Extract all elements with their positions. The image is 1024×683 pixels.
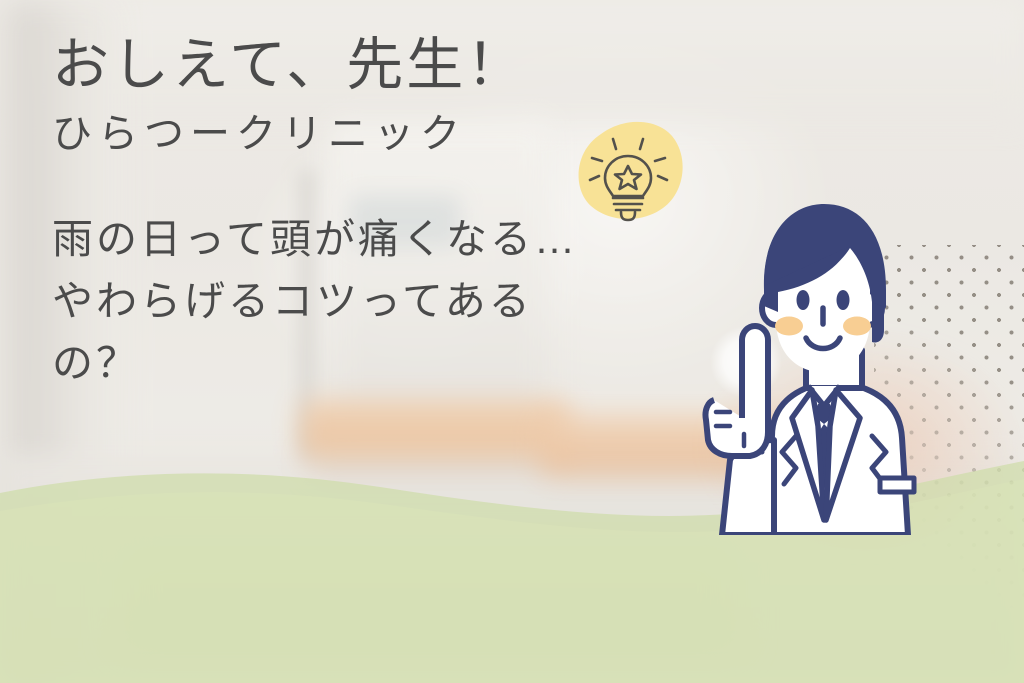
cheek-right <box>843 317 871 336</box>
cheek-left <box>775 317 803 336</box>
eye-right <box>837 290 850 310</box>
question-line-3: の？ <box>52 332 742 394</box>
page-title: おしえて、先生！ <box>52 36 752 96</box>
question-text: 雨の日って頭が痛くなる… やわらげるコツってある の？ <box>52 208 742 395</box>
question-line-2: やわらげるコツってある <box>52 270 742 332</box>
coat-pocket <box>880 478 914 492</box>
eye-left <box>797 290 810 310</box>
clinic-name: ひらつークリニック <box>52 112 752 156</box>
banner-canvas: おしえて、先生！ ひらつークリニック 雨の日って頭が痛くなる… やわらげるコツっ… <box>0 0 1024 683</box>
headline-block: おしえて、先生！ ひらつークリニック 雨の日って頭が痛くなる… やわらげるコツっ… <box>52 36 752 395</box>
question-line-1: 雨の日って頭が痛くなる… <box>52 208 742 270</box>
